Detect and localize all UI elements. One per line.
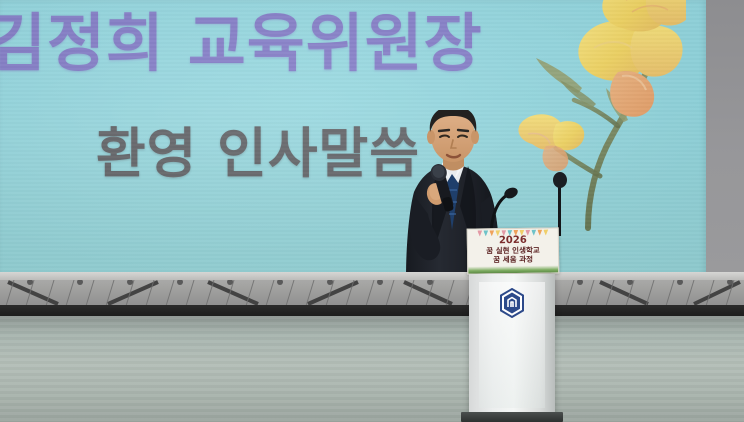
podium-sign-text: 2026 꿈 실현 인생학교 꿈 세움 과정: [468, 234, 558, 265]
projection-screen: 김정희 교육위원장 환영 인사말씀: [0, 0, 706, 282]
podium-sign-line2: 꿈 세움 과정: [468, 255, 558, 265]
lectern-base: [461, 412, 563, 422]
secondary-microphone-stand: [547, 170, 573, 236]
slide-title-line1: 김정희 교육위원장: [0, 12, 588, 76]
grass-decoration: [468, 265, 558, 273]
truss-body: [0, 280, 744, 306]
floor-sheen: [0, 316, 744, 422]
stage-floor: [0, 316, 744, 422]
stage-truss: [0, 272, 744, 316]
school-crest-emblem: [499, 288, 525, 318]
lectern: 2026 꿈 실현 인생학교 꿈 세움 과정: [455, 228, 570, 422]
truss-base-band: [0, 305, 744, 316]
podium-sign: 2026 꿈 실현 인생학교 꿈 세움 과정: [467, 227, 560, 274]
screenshot-root: 김정희 교육위원장 환영 인사말씀: [0, 0, 744, 422]
